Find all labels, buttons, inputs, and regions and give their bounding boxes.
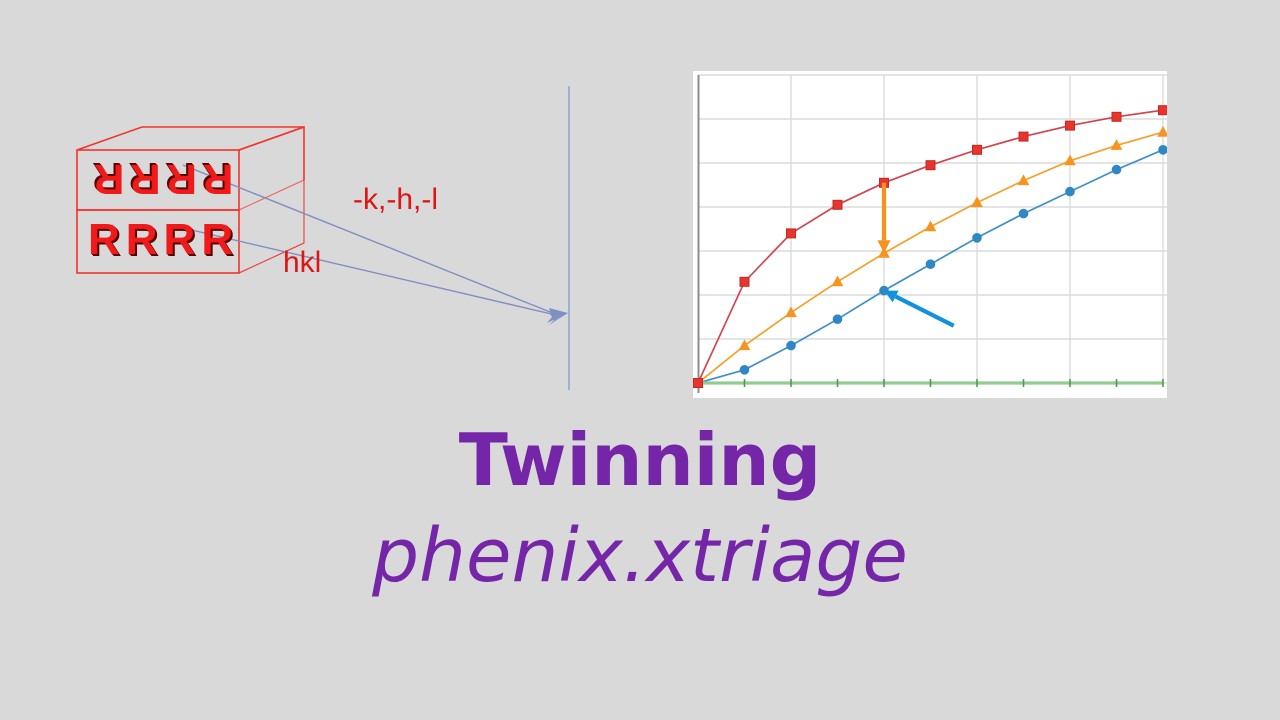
data-point-circle	[1112, 165, 1121, 174]
vertical-divider	[568, 86, 570, 390]
data-point-circle	[787, 341, 796, 350]
data-point-square	[973, 145, 982, 154]
twin-crystal-diagram: RRRR RRRR -k,-h,-l hkl	[55, 120, 575, 420]
data-point-circle	[833, 315, 842, 324]
chart-svg	[693, 71, 1167, 398]
title-block: Twinning phenix.xtriage	[0, 424, 1280, 596]
data-point-circle	[926, 260, 935, 269]
label-negative-k-h-l: -k,-h,-l	[353, 183, 438, 217]
data-point-square	[1112, 112, 1121, 121]
cumulative-intensity-chart	[693, 71, 1167, 398]
data-point-circle	[1019, 209, 1028, 218]
data-point-square	[787, 229, 796, 238]
data-point-square	[1066, 121, 1075, 130]
box-mid-edge	[239, 180, 304, 210]
data-point-square	[1159, 106, 1168, 115]
data-point-square	[1019, 132, 1028, 141]
data-point-square	[833, 200, 842, 209]
data-point-square	[694, 379, 703, 388]
crystal-layer-top-letters: RRRR	[88, 155, 233, 203]
data-point-circle	[1066, 187, 1075, 196]
page-subtitle: phenix.xtriage	[0, 518, 1280, 596]
data-point-circle	[740, 366, 749, 375]
slide-canvas: RRRR RRRR -k,-h,-l hkl Twinning phenix.x…	[0, 0, 1280, 720]
label-hkl: hkl	[283, 246, 321, 280]
data-point-square	[926, 161, 935, 170]
data-point-square	[740, 277, 749, 286]
page-title: Twinning	[0, 424, 1280, 496]
data-point-circle	[1159, 146, 1167, 155]
data-point-circle	[973, 234, 982, 243]
crystal-layer-bottom-letters: RRRR	[88, 215, 239, 265]
box-upper-right-face	[239, 127, 304, 180]
